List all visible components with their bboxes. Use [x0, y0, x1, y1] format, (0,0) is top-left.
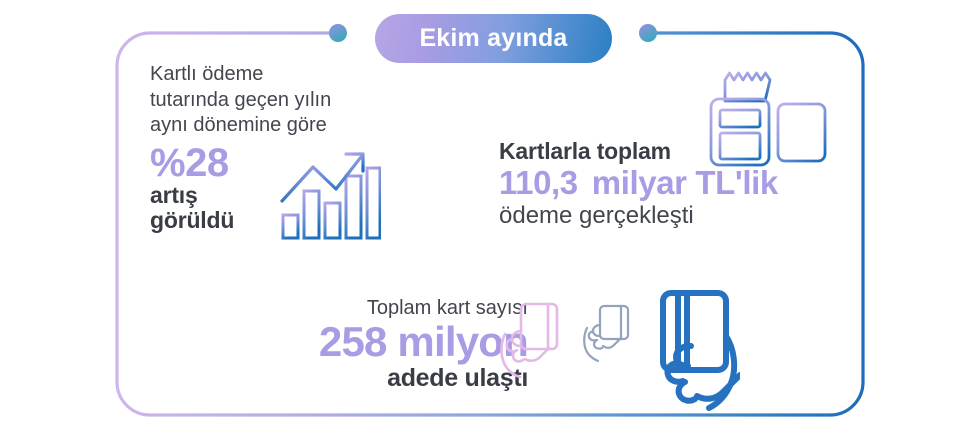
- stat1-sub-line1: artış: [150, 183, 270, 208]
- stat1-value-row: %28 artış görüldü: [150, 143, 490, 245]
- stat-total-card-count: Toplam kart sayısı 258 milyon adede ulaş…: [238, 296, 528, 392]
- connector-dot-left: [329, 24, 347, 42]
- stat2-value-row: 110,3milyar TL'lik: [499, 165, 829, 200]
- stat-card-payment-increase: Kartlı ödeme tutarında geçen yılın aynı …: [150, 62, 490, 245]
- hand-card-small-pink-icon: [501, 304, 557, 377]
- stat3-line3: adede ulaştı: [238, 364, 528, 392]
- stat1-lead-line2: tutarında geçen yılın: [150, 88, 380, 114]
- hand-card-large-blue-icon: [663, 293, 740, 408]
- stat2-value-unit: milyar TL'lik: [592, 164, 778, 201]
- stat1-lead-line3: aynı dönemine göre: [150, 113, 380, 139]
- title-badge-label: Ekim ayında: [419, 24, 567, 53]
- stat1-lead-text: Kartlı ödeme tutarında geçen yılın aynı …: [150, 62, 380, 139]
- stat2-value: 110,3: [499, 164, 578, 201]
- stat-total-payment-amount: Kartlarla toplam 110,3milyar TL'lik ödem…: [499, 138, 829, 230]
- stat2-line1: Kartlarla toplam: [499, 138, 829, 165]
- hand-card-small-gray-icon: [584, 306, 628, 361]
- infographic-card: Ekim ayında Kartlı ödeme tutarında geçen…: [0, 0, 980, 437]
- title-badge: Ekim ayında: [375, 14, 612, 63]
- stat1-lead-line1: Kartlı ödeme: [150, 62, 380, 88]
- stat2-line3: ödeme gerçekleşti: [499, 201, 829, 230]
- stat1-value: %28: [150, 143, 270, 183]
- hand-holding-card-icon: [495, 288, 740, 413]
- stat1-sub-line2: görüldü: [150, 208, 270, 233]
- stat3-value: 258 milyon: [238, 320, 528, 364]
- stat3-line1: Toplam kart sayısı: [238, 296, 528, 320]
- connector-dot-right: [639, 24, 657, 42]
- bar-chart-growth-icon: [276, 145, 381, 245]
- stat1-text-column: %28 artış görüldü: [150, 143, 270, 233]
